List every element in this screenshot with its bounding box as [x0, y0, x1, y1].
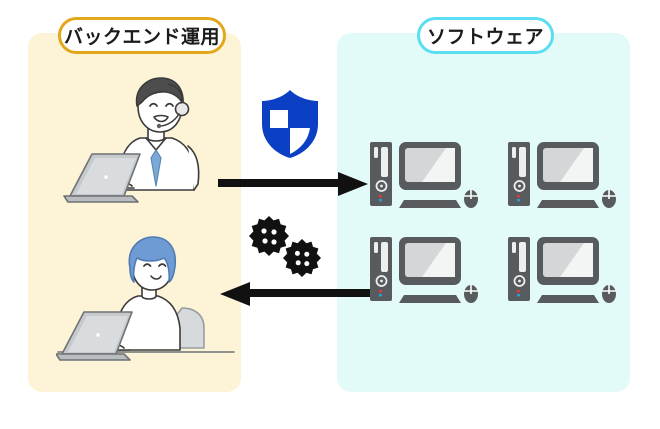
label-backend-text: バックエンド運用	[64, 22, 220, 49]
shield-icon-svg	[258, 88, 322, 160]
virus-glyph-1	[249, 216, 289, 256]
computer-2	[506, 138, 622, 212]
computer-4	[506, 233, 622, 307]
desktop-computer-icon	[506, 233, 622, 307]
arrow-left-svg	[212, 278, 370, 310]
desktop-computer-icon	[368, 233, 484, 307]
illustration-end-user	[56, 236, 236, 366]
computer-1	[368, 138, 484, 212]
label-software: ソフトウェア	[417, 17, 554, 54]
virus-glyph-2	[283, 239, 321, 277]
laptop-agent	[64, 154, 140, 202]
illustration-support-agent	[62, 76, 238, 204]
support-agent-svg	[62, 76, 238, 204]
desktop-computer-icon	[368, 138, 484, 212]
arrow-right-svg	[218, 168, 368, 200]
label-backend-operations: バックエンド運用	[58, 17, 226, 54]
end-user-svg	[56, 236, 236, 366]
computer-3	[368, 233, 484, 307]
diagram-canvas: バックエンド運用 ソフトウェア	[0, 0, 660, 429]
shield-icon	[258, 88, 322, 160]
desktop-computer-icon	[506, 138, 622, 212]
malware-icon	[248, 216, 326, 278]
computer-grid	[368, 138, 620, 310]
label-software-text: ソフトウェア	[427, 22, 544, 49]
malware-icon-svg	[248, 216, 326, 278]
arrow-backend-to-software	[218, 168, 368, 200]
arrow-software-to-backend	[212, 278, 370, 310]
